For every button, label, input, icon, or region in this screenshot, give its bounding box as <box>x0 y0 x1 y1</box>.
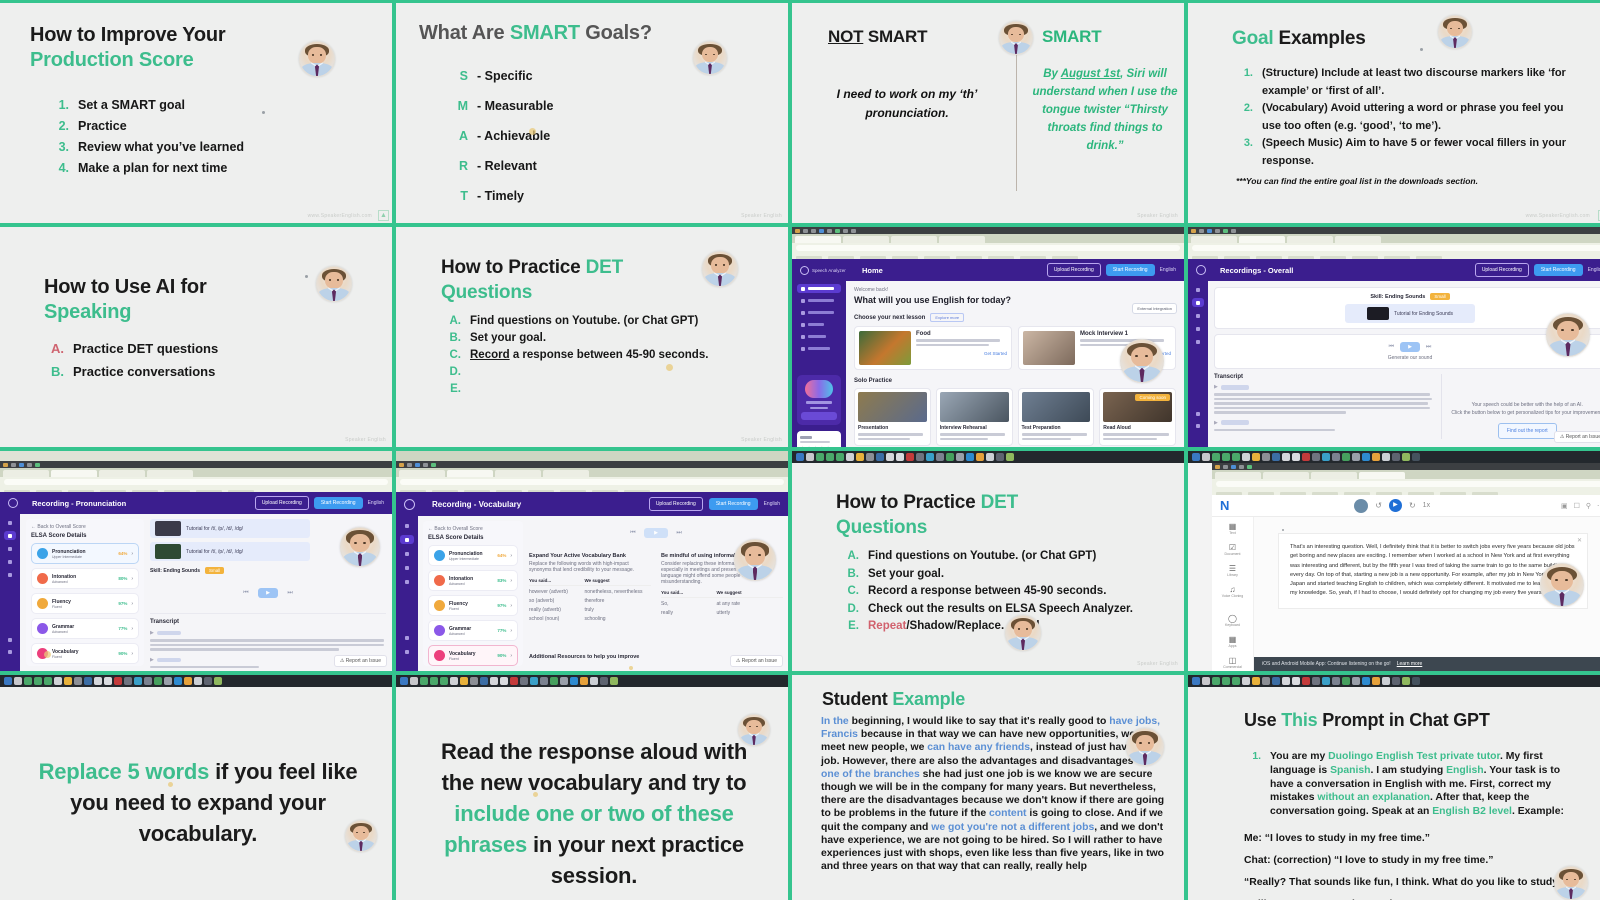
list-item: M- Measurable <box>451 91 553 121</box>
list-item: 3.Review what you’ve learned <box>52 137 244 158</box>
app-header: Recording - Vocabulary Upload Recording … <box>396 492 788 516</box>
table-row: school (noun)schooling <box>529 616 651 622</box>
mac-menu-bar <box>1188 227 1600 234</box>
app-logo[interactable]: N <box>1220 498 1229 513</box>
start-recording-button[interactable]: Start Recording <box>1534 264 1583 276</box>
section-title-lessons: Choose your next lesson <box>854 315 925 321</box>
main-content: Skill: Ending Sounds Small Tutorial for … <box>1208 281 1600 447</box>
tutorial-link[interactable]: Tutorial for Ending Sounds <box>1345 304 1475 323</box>
address-bar[interactable] <box>1188 243 1600 253</box>
upload-recording-button[interactable]: Upload Recording <box>255 496 309 510</box>
headline: What will you use English for today? <box>854 295 1176 305</box>
det-list: A.Find questions on Youtube. (or Chat GP… <box>444 313 708 398</box>
app-logo[interactable]: Speech Analyzer <box>800 266 854 275</box>
score-row-fluency[interactable]: FluencyFluent97%› <box>428 595 518 616</box>
table-row: however (adverb)nonetheless, nevertheles… <box>529 589 651 595</box>
sidebar-item-settings[interactable] <box>797 332 841 341</box>
slide-cell-speech-analyzer-home[interactable]: Speech Analyzer Home Upload Recording St… <box>792 227 1184 447</box>
slide-cell-how-to-use-ai[interactable]: How to Use AI forSpeaking A.Practice DET… <box>0 227 392 447</box>
invite-promo[interactable] <box>797 375 841 425</box>
browser-screenshot-natural-readers: N ↺ ▶ ↻ 1x ▣ ☐ ⚲ ⋯ ▦Text ☑Document <box>1188 451 1600 671</box>
title-line-1: How to Improve Your <box>30 24 225 46</box>
sidebar-item-settings[interactable] <box>4 570 16 579</box>
lesson-card-title: Mock Interview 1 <box>1080 331 1171 337</box>
transcript-box[interactable]: ✕ That’s an interesting question. Well, … <box>1278 533 1588 609</box>
list-item: 4.Make a plan for next time <box>52 158 244 179</box>
slide-goal-examples: Goal Examples 1.(Structure) Include at l… <box>1188 3 1600 223</box>
mac-menu-bar <box>1212 463 1600 470</box>
sidebar-item-home[interactable] <box>797 284 841 293</box>
desktop-taskbar[interactable] <box>1188 451 1600 463</box>
app-header: Recording - Pronunciation Upload Recordi… <box>0 492 392 514</box>
sidebar: ☆☆☆☆☆ <box>792 281 846 447</box>
sidebar-item-apps[interactable]: ▦Apps <box>1212 635 1253 648</box>
main-content: ← Back to Overall Score ELSA Score Detai… <box>418 516 788 671</box>
table-row: So,at any rate <box>661 601 783 607</box>
slide-cell-recordings-overall[interactable]: Recordings - Overall Upload Recording St… <box>1188 227 1600 447</box>
solo-card[interactable]: Coming soon Read Aloud <box>1099 388 1176 446</box>
table-header: You said... <box>661 590 716 595</box>
sidebar <box>396 516 418 671</box>
browser-chrome <box>792 234 1184 259</box>
solo-card-title: Read Aloud <box>1103 425 1172 431</box>
sidebar-item-recordings[interactable] <box>4 531 16 540</box>
dialogue-line: I will start. Do you understand? <box>1244 894 1582 900</box>
heading-not-smart: NOT SMART <box>828 27 927 47</box>
tab-strip[interactable] <box>0 468 392 477</box>
slide-grid: How to Improve Your Production Score 1.S… <box>0 0 1600 900</box>
list-item: S- Specific <box>451 61 553 91</box>
browser-chrome <box>1212 470 1600 495</box>
slide-what-are-smart-goals: What Are SMART Goals? S- Specific M- Mea… <box>396 3 788 223</box>
page-title: Use This Prompt in Chat GPT <box>1244 710 1490 731</box>
heading-smart: SMART <box>1042 27 1101 47</box>
headline: Read the response aloud with the new voc… <box>426 736 762 891</box>
score-row-intonation[interactable]: IntonationAdvanced83%› <box>428 570 518 591</box>
dialogue-line: Chat: (correction) “I love to study in m… <box>1244 850 1582 872</box>
table-header: We suggest <box>716 590 783 595</box>
page-title: Recordings - Overall <box>1220 266 1293 275</box>
skill-card: Skill: Ending Sounds Small Tutorial for … <box>1214 287 1600 329</box>
coming-soon-badge: Coming soon <box>1135 394 1170 401</box>
app-header: Recordings - Overall Upload Recording St… <box>1188 259 1600 281</box>
close-icon[interactable]: ✕ <box>1577 537 1582 544</box>
sidebar-item-rate[interactable] <box>401 633 413 642</box>
sidebar-item-home[interactable] <box>4 518 16 527</box>
window-top-strip <box>0 451 392 461</box>
transcript-label: Transcript <box>150 619 386 625</box>
headline: Replace 5 words if you feel like you nee… <box>28 756 368 849</box>
slide-read-response-aloud: Read the response aloud with the new voc… <box>396 688 788 900</box>
mouse-cursor <box>533 792 538 797</box>
presenter-avatar <box>738 714 770 746</box>
play-button[interactable]: ▶ <box>644 528 668 538</box>
browser-screenshot-vocabulary: Recording - Vocabulary Upload Recording … <box>396 451 788 671</box>
slide-cell-chat-gpt-prompt[interactable]: Use This Prompt in Chat GPT 1. You are m… <box>1188 675 1600 900</box>
panel-title: ELSA Score Details <box>428 535 518 541</box>
mouse-cursor <box>529 128 536 135</box>
slide-cell-det-questions-partial[interactable]: How to Practice DETQuestions A.Find ques… <box>396 227 788 447</box>
upload-recording-button[interactable]: Upload Recording <box>1475 263 1529 277</box>
score-panel: ← Back to Overall Score ELSA Score Detai… <box>26 519 144 666</box>
divider <box>1016 47 1017 191</box>
browser-screenshot-pronunciation: Recording - Pronunciation Upload Recordi… <box>0 451 392 671</box>
report-issue-button[interactable]: ⚠ Report an Issue <box>334 655 387 667</box>
language-selector[interactable]: English <box>1160 267 1176 273</box>
transcript-text: That’s an interesting question. Well, I … <box>1290 543 1576 599</box>
list-item: A- Achievable <box>451 121 553 151</box>
presenter-avatar <box>340 527 380 567</box>
audio-player[interactable]: ⏮ ▶ ⏭ <box>150 581 386 608</box>
report-issue-button[interactable]: ⚠ Report an Issue <box>1554 431 1600 443</box>
explore-more-badge[interactable]: Explore more <box>930 313 964 322</box>
rate-us-card[interactable]: ☆☆☆☆☆ <box>797 431 841 447</box>
slide-cell-goal-examples[interactable]: Goal Examples 1.(Structure) Include at l… <box>1188 3 1600 223</box>
list-item: E. <box>444 381 708 398</box>
page-title: What Are SMART Goals? <box>419 22 652 45</box>
forward-icon[interactable]: ↻ <box>1409 501 1416 510</box>
slide-cell-read-response-aloud[interactable]: Read the response aloud with the new voc… <box>396 675 788 900</box>
tab-strip[interactable] <box>396 468 788 477</box>
language-selector[interactable]: English <box>1588 267 1600 273</box>
promo-banner[interactable]: iOS and Android Mobile App: Continue lis… <box>1254 657 1600 671</box>
list-item: R- Relevant <box>451 151 553 181</box>
mouse-cursor <box>629 666 633 670</box>
presenter-avatar <box>693 41 727 75</box>
sidebar-item-recordings[interactable] <box>400 535 414 544</box>
list-item: T- Timely <box>451 181 553 211</box>
tutorial-link-1[interactable]: Tutorial for /t/, /p/, /d/, /dg/ <box>150 519 310 538</box>
sidebar-item-pricing[interactable] <box>4 557 16 566</box>
watermark: Speaker English <box>741 437 782 443</box>
panel-title: ELSA Score Details <box>31 533 139 539</box>
logo-badge: ▲ <box>378 210 389 221</box>
tab-strip[interactable] <box>1188 234 1600 243</box>
sidebar-item-settings[interactable] <box>1192 337 1204 346</box>
slide-replace-5-words: Replace 5 words if you feel like you nee… <box>0 688 392 900</box>
presenter-avatar <box>734 539 776 581</box>
sidebar-item-guided-practice[interactable] <box>4 544 16 553</box>
presenter-avatar <box>1126 728 1164 766</box>
mac-menu-bar <box>0 461 392 468</box>
presenter-avatar <box>299 41 335 77</box>
presenter-avatar <box>1120 339 1164 383</box>
back-link[interactable]: ← Back to Overall Score <box>428 526 518 532</box>
browser-screenshot-home: Speech Analyzer Home Upload Recording St… <box>792 227 1184 447</box>
slide-cell-improve-production-score[interactable]: How to Improve Your Production Score 1.S… <box>0 3 392 223</box>
slide-how-to-practice-det-partial: How to Practice DETQuestions A.Find ques… <box>396 227 788 447</box>
score-row-grammar[interactable]: GrammarAdvanced 77%› <box>31 618 139 639</box>
app-logo[interactable] <box>8 498 24 508</box>
sidebar-item-home[interactable] <box>1192 285 1204 294</box>
sidebar-item-contact-us[interactable] <box>797 344 841 353</box>
sidebar-item-pricing[interactable] <box>797 320 841 329</box>
sidebar-item-logout[interactable] <box>5 647 15 656</box>
sidebar-item-voice-cloning[interactable]: ♫Voice Cloning <box>1212 585 1253 598</box>
sidebar <box>1188 281 1208 447</box>
sidebar-item-pricing[interactable] <box>1192 324 1204 333</box>
sidebar-item-logout[interactable] <box>401 647 413 656</box>
page-title: How to Practice DETQuestions <box>441 255 623 305</box>
sidebar-item-settings[interactable] <box>400 577 414 586</box>
sidebar-item-rate[interactable] <box>5 635 15 644</box>
lesson-card-title: Food <box>916 331 1007 337</box>
sidebar-item-commercial[interactable]: ◫Commercial <box>1212 656 1253 669</box>
app-sidebar: ▦Text ☑Document ☰Library ♫Voice Cloning … <box>1212 517 1254 671</box>
presenter-avatar <box>1438 15 1472 49</box>
play-button[interactable]: ▶ <box>1389 499 1402 512</box>
app-toolbar: N ↺ ▶ ↻ 1x ▣ ☐ ⚲ ⋯ <box>1212 495 1600 517</box>
score-row-pronunciation[interactable]: PronunciationUpper Intermediate64%› <box>428 545 518 566</box>
speed-icon[interactable]: 1x <box>1423 502 1430 509</box>
tab-strip[interactable] <box>792 234 1184 243</box>
list-item: A.Practice DET questions <box>47 337 218 360</box>
table-row: reallyutterly <box>661 610 783 616</box>
sidebar <box>0 514 20 671</box>
presenter-avatar <box>1540 563 1584 607</box>
rating-stars[interactable]: ☆☆☆☆☆ <box>800 445 838 447</box>
app-header: Speech Analyzer Home Upload Recording St… <box>792 259 1184 281</box>
list-item: A.Find questions on Youtube. (or Chat GP… <box>444 313 708 330</box>
audio-hint: Generate our sound <box>1222 355 1598 361</box>
transcript-paragraph <box>150 639 386 651</box>
browser-chrome <box>396 468 788 492</box>
sidebar-item-pricing[interactable] <box>400 563 414 572</box>
mouse-cursor <box>305 275 308 278</box>
solo-card-title: Presentation <box>858 425 927 431</box>
address-bar[interactable] <box>396 477 788 487</box>
browser-chrome <box>0 468 392 492</box>
list-item: B.Practice conversations <box>47 360 218 383</box>
presenter-avatar <box>999 21 1033 55</box>
list-item: 1.Set a SMART goal <box>52 95 244 116</box>
rewind-icon[interactable]: ↺ <box>1375 501 1382 510</box>
goal-note: ***You can find the entire goal list in … <box>1236 176 1478 186</box>
dialogue-line: “Really? That sounds like fun, I think. … <box>1244 872 1582 894</box>
dialogue-line: Me: “I loves to study in my free time.” <box>1244 828 1582 850</box>
watermark: Speaker English <box>1137 213 1178 219</box>
sidebar-item-guided-practice[interactable] <box>1192 311 1204 320</box>
slide-cell-recording-vocabulary[interactable]: Recording - Vocabulary Upload Recording … <box>396 451 788 671</box>
browser-chrome <box>1188 234 1600 259</box>
score-row-intonation[interactable]: IntonationAdvanced 80%› <box>31 568 139 589</box>
presenter-avatar <box>1005 615 1041 651</box>
table-header: You said... <box>529 578 584 583</box>
ordered-list: 1.Set a SMART goal 2.Practice 3.Review w… <box>52 95 244 179</box>
slide-cell-natural-readers[interactable]: N ↺ ▶ ↻ 1x ▣ ☐ ⚲ ⋯ ▦Text ☑Document <box>1188 451 1600 671</box>
solo-card-title: Test Preparation <box>1022 425 1091 431</box>
page-title: Home <box>862 266 883 275</box>
student-paragraph: In the beginning, I would like to say th… <box>821 715 1173 873</box>
title-line-2: Production Score <box>30 49 194 71</box>
transcript-paragraph <box>1214 393 1435 414</box>
page-title: Student Example <box>822 689 965 710</box>
presenter-avatar <box>702 251 738 287</box>
slide-how-to-use-ai-for-speaking: How to Use AI forSpeaking A.Practice DET… <box>0 227 392 447</box>
find-report-button[interactable]: Find out the report <box>1498 423 1557 439</box>
smart-body: By August 1st, Siri will understand when… <box>1030 65 1180 155</box>
slide-cell-recording-pronunciation[interactable]: Recording - Pronunciation Upload Recordi… <box>0 451 392 671</box>
tab-strip[interactable] <box>1212 470 1600 479</box>
transcript-label: Transcript <box>1214 374 1435 380</box>
address-bar[interactable] <box>0 477 392 487</box>
presenter-avatar <box>316 266 352 302</box>
sidebar-item-home[interactable] <box>400 521 414 530</box>
upload-recording-button[interactable]: Upload Recording <box>649 497 703 511</box>
main-content: ← Back to Overall Score ELSA Score Detai… <box>20 514 392 671</box>
list-item: C.Record a response between 45-90 second… <box>842 583 1142 601</box>
lesson-card[interactable]: Food Get Started <box>854 326 1012 370</box>
desktop-taskbar[interactable] <box>396 675 788 687</box>
sidebar-item-rate[interactable] <box>1193 409 1203 418</box>
report-issue-button[interactable]: ⚠ Report an Issue <box>730 655 783 667</box>
start-recording-button[interactable]: Start Recording <box>1106 264 1155 276</box>
welcome-text: Welcome back! <box>854 287 1176 293</box>
not-smart-body: I need to work on my ‘th’ pronunciation. <box>814 85 1000 123</box>
list-item: D.Check out the results on ELSA Speech A… <box>842 601 1142 619</box>
smart-list: S- Specific M- Measurable A- Achievable … <box>451 61 553 211</box>
solo-card[interactable]: Presentation <box>854 388 931 446</box>
goal-list: 1.(Structure) Include at least two disco… <box>1236 65 1566 170</box>
start-recording-button[interactable]: Start Recording <box>709 498 758 510</box>
slide-cell-replace-5-words[interactable]: Replace 5 words if you feel like you nee… <box>0 675 392 900</box>
sidebar-item-text[interactable]: ▦Text <box>1212 522 1253 535</box>
learn-more-link[interactable]: Learn more <box>1397 661 1423 667</box>
presenter-avatar <box>1554 866 1588 900</box>
page-title: How to Practice DETQuestions <box>836 490 1018 540</box>
score-row-pronunciation[interactable]: PronunciationUpper Intermediate 64%› <box>31 543 139 564</box>
audio-player[interactable]: ⏮ ▶ ⏭ <box>529 521 783 539</box>
page-title: Recording - Pronunciation <box>32 499 126 508</box>
app-logo[interactable] <box>1196 265 1212 275</box>
mouse-cursor <box>1420 48 1423 51</box>
slide-improve-production-score: How to Improve Your Production Score 1.S… <box>0 3 392 223</box>
address-bar[interactable] <box>1212 479 1600 489</box>
mac-menu-bar <box>792 227 1184 234</box>
prompt-text: You are my Duolingo English Test private… <box>1270 750 1568 819</box>
presenter-avatar <box>1546 313 1590 357</box>
sidebar-item-keyboard[interactable]: ◯Keyboard <box>1212 614 1253 627</box>
browser-screenshot-recordings-overall: Recordings - Overall Upload Recording St… <box>1188 227 1600 447</box>
score-row-vocabulary[interactable]: VocabularyFluent90%› <box>428 645 518 666</box>
desktop-taskbar[interactable] <box>0 675 392 687</box>
play-button[interactable]: ▶ <box>258 588 278 598</box>
external-integration-button[interactable]: External Integration <box>1132 303 1177 314</box>
slide-cell-not-smart-vs-smart[interactable]: NOT SMART SMART I need to work on my ‘th… <box>792 3 1184 223</box>
table-row: so (adverb)therefore <box>529 598 651 604</box>
lesson-card-cta[interactable]: Get Started <box>916 351 1007 356</box>
app-logo[interactable] <box>404 499 422 510</box>
score-row-fluency[interactable]: FluencyFluent 97%› <box>31 593 139 614</box>
page-title: Goal Examples <box>1232 28 1366 50</box>
solo-card-title: Interview Rehearsal <box>940 425 1009 431</box>
play-button[interactable]: ▶ <box>1400 342 1420 352</box>
list-item: 2.Practice <box>52 116 244 137</box>
ai-report-panel: Your speech could be better with the hel… <box>1441 374 1600 439</box>
start-recording-button[interactable]: Start Recording <box>314 497 363 509</box>
language-selector[interactable]: English <box>764 501 780 507</box>
vocab-panel-a: Expand Your Active Vocabulary Bank Repla… <box>529 553 651 622</box>
language-selector[interactable]: English <box>368 500 384 506</box>
page-title: How to Use AI forSpeaking <box>44 275 207 325</box>
view-icon[interactable]: ▣ <box>1561 502 1568 510</box>
solo-card[interactable]: Interview Rehearsal <box>936 388 1013 446</box>
audio-player[interactable]: ⏮ ▶ ⏭ Generate our sound <box>1214 334 1600 369</box>
sidebar-item-recordings[interactable] <box>797 296 841 305</box>
watermark: Speaker English <box>1137 661 1178 667</box>
skill-badge: Small <box>1430 293 1449 300</box>
ai-list: A.Practice DET questions B.Practice conv… <box>47 337 218 383</box>
skill-label: Skill: Ending Sounds <box>150 568 200 574</box>
copy-icon[interactable]: ☐ <box>1574 502 1580 510</box>
presenter-avatar <box>345 820 377 852</box>
slide-cell-det-questions-full[interactable]: How to Practice DETQuestions A.Find ques… <box>792 451 1184 671</box>
mouse-cursor <box>44 651 51 658</box>
search-icon[interactable]: ⚲ <box>1586 502 1591 510</box>
table-row: really (adverb)truly <box>529 607 651 613</box>
voice-avatar-icon[interactable] <box>1354 499 1368 513</box>
desktop-taskbar[interactable] <box>792 451 1184 463</box>
list-item: E.Repeat/Shadow/Replace. Aloud <box>842 618 1142 636</box>
slide-chat-gpt-prompt: Use This Prompt in Chat GPT 1. You are m… <box>1188 688 1600 900</box>
solo-card[interactable]: Test Preparation <box>1018 388 1095 446</box>
mouse-cursor <box>262 111 265 114</box>
det-list: A.Find questions on Youtube. (or Chat GP… <box>842 548 1142 636</box>
table-header: We suggest <box>584 578 651 583</box>
watermark: Speaker English <box>741 213 782 219</box>
watermark: www.SpeakerEnglish.com <box>308 213 372 219</box>
list-item: B.Set your goal. <box>842 566 1142 584</box>
sidebar-item-logout[interactable] <box>1193 421 1203 430</box>
sidebar-item-guided-practice[interactable] <box>400 549 414 558</box>
page-title: How to Improve Your Production Score <box>30 23 225 73</box>
address-bar[interactable] <box>792 243 1184 253</box>
watermark: Speaker English <box>345 437 386 443</box>
slide-cell-student-example[interactable]: Student Example In the beginning, I woul… <box>792 675 1184 900</box>
score-row-grammar[interactable]: GrammarAdvanced77%› <box>428 620 518 641</box>
list-item: B.Set your goal. <box>444 330 708 347</box>
slide-cell-what-are-smart-goals[interactable]: What Are SMART Goals? S- Specific M- Mea… <box>396 3 788 223</box>
page-title: Recording - Vocabulary <box>432 500 521 509</box>
mouse-cursor <box>168 782 173 787</box>
upload-recording-button[interactable]: Upload Recording <box>1047 263 1101 277</box>
slide-how-to-practice-det-full: How to Practice DETQuestions A.Find ques… <box>792 463 1184 671</box>
additional-resources-heading: Additional Resources to help you improve <box>529 654 639 660</box>
sidebar-item-guided-practice[interactable] <box>797 308 841 317</box>
example-dialogue: Me: “I loves to study in my free time.” … <box>1244 828 1582 900</box>
list-item: 1.(Structure) Include at least two disco… <box>1236 65 1566 100</box>
slide-not-smart-vs-smart: NOT SMART SMART I need to work on my ‘th… <box>792 3 1184 223</box>
watermark: www.SpeakerEnglish.com <box>1526 213 1590 219</box>
prompt-item: 1. You are my Duolingo English Test priv… <box>1244 750 1568 819</box>
sidebar-item-document[interactable]: ☑Document <box>1212 543 1253 556</box>
tutorial-link-2[interactable]: Tutorial for /t/, /p/, /d/, /dg/ <box>150 542 310 561</box>
window-top-strip <box>396 451 788 461</box>
sidebar-item-library[interactable]: ☰Library <box>1212 564 1253 577</box>
skill-badge: Small <box>205 567 224 574</box>
mac-menu-bar <box>396 461 788 468</box>
list-item: C.Record a response between 45-90 second… <box>444 347 708 364</box>
list-item: 2.(Vocabulary) Avoid uttering a word or … <box>1236 100 1566 135</box>
list-item: 3.(Speech Music) Aim to have 5 or fewer … <box>1236 135 1566 170</box>
sidebar-item-recordings[interactable] <box>1192 298 1204 307</box>
skill-label: Skill: Ending Sounds <box>1370 294 1425 300</box>
mouse-cursor <box>666 364 673 371</box>
list-item: A.Find questions on Youtube. (or Chat GP… <box>842 548 1142 566</box>
back-link[interactable]: ← Back to Overall Score <box>31 524 139 530</box>
desktop-taskbar[interactable] <box>1188 675 1600 687</box>
score-panel: ← Back to Overall Score ELSA Score Detai… <box>423 521 523 666</box>
